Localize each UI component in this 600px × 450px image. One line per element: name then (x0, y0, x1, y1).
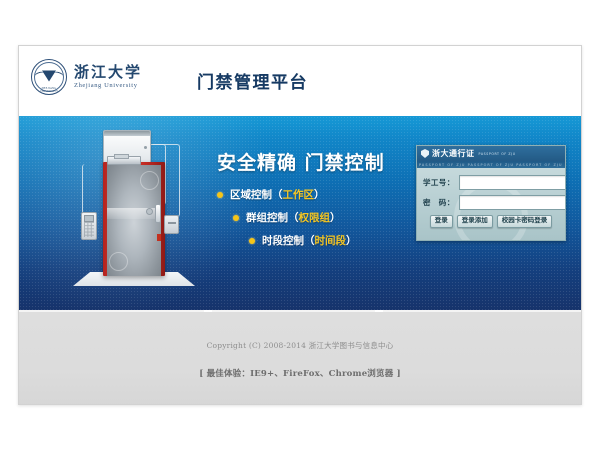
password-input[interactable] (459, 195, 566, 210)
username-input[interactable] (459, 175, 566, 190)
keypad-reader-icon (81, 212, 97, 240)
page-card: ZHEJIANG UNIVERSITY 浙江大学 Zhejiang Univer… (18, 45, 582, 405)
door-closer-icon (107, 156, 141, 165)
feature-highlight: 工作区 (283, 189, 315, 201)
login-panel-watermark-strip: PASSPORT OF ZJU PASSPORT OF ZJU PASSPORT… (417, 161, 565, 168)
field-row-password: 密 码： (423, 195, 559, 210)
site-header: ZHEJIANG UNIVERSITY 浙江大学 Zhejiang Univer… (19, 46, 581, 116)
field-row-username: 学工号： (423, 175, 559, 190)
hero-title: 安全精确 门禁控制 (217, 148, 417, 175)
access-control-door-illustration (51, 122, 211, 302)
footer-tab-marker (204, 310, 212, 312)
site-footer: Copyright (C) 2008-2014 浙江大学图书与信息中心 [ 最佳… (19, 310, 581, 405)
feature-item-area-control: 区域控制（工作区） (217, 187, 417, 202)
feature-tail: ） (346, 235, 357, 247)
brand-name-cn: 浙江大学 (74, 65, 142, 80)
login-panel-header: 浙大通行证 PASSPORT OF ZJU (417, 146, 565, 161)
campus-card-password-login-button[interactable]: 校园卡密码登录 (497, 215, 553, 228)
feature-item-group-control: 群组控制（权限组） (233, 210, 417, 225)
hero-copy: 安全精确 门禁控制 区域控制（工作区） 群组控制（权限组） 时段控制（时间段） (217, 148, 417, 256)
feature-highlight: 时间段 (315, 235, 347, 247)
login-panel-subtitle: PASSPORT OF ZJU (479, 152, 516, 156)
login-button-row: 登录 登录添加 校园卡密码登录 (423, 215, 559, 228)
seal-arc-text: ZHEJIANG UNIVERSITY (32, 87, 66, 93)
door-handle-icon (155, 204, 161, 223)
login-button[interactable]: 登录 (430, 215, 453, 228)
feature-tail: ） (330, 212, 341, 224)
feature-label: 区域控制（ (230, 189, 283, 201)
login-panel-title: 浙大通行证 (432, 148, 475, 159)
shield-icon (421, 149, 429, 158)
feature-tail: ） (314, 189, 325, 201)
page-title: 门禁管理平台 (197, 68, 308, 93)
wire-controller-to-keypad (82, 164, 105, 214)
feature-highlight: 权限组 (299, 212, 331, 224)
footer-tab-marker (375, 310, 383, 312)
brand-name-en: Zhejiang University (74, 83, 142, 90)
feature-label: 时段控制（ (262, 235, 315, 247)
bullet-icon (233, 215, 239, 221)
login-form: 学工号： 密 码： 登录 登录添加 校园卡密码登录 (417, 168, 565, 228)
login-add-button[interactable]: 登录添加 (457, 215, 493, 228)
door-leaf (107, 165, 161, 276)
login-panel[interactable]: 浙大通行证 PASSPORT OF ZJU PASSPORT OF ZJU PA… (416, 145, 566, 241)
zju-seal-icon: ZHEJIANG UNIVERSITY (31, 59, 67, 95)
supported-browsers-text: [ 最佳体验：IE9+、FireFox、Chrome浏览器 ] (19, 351, 581, 379)
feature-label: 群组控制（ (246, 212, 299, 224)
bullet-icon (249, 238, 255, 244)
bullet-icon (217, 192, 223, 198)
copyright-text: Copyright (C) 2008-2014 浙江大学图书与信息中心 (19, 312, 581, 351)
password-label: 密 码： (423, 197, 455, 208)
card-reader-icon (164, 215, 179, 234)
username-label: 学工号： (423, 177, 455, 188)
door-strike-icon (157, 234, 161, 241)
brand-logo[interactable]: ZHEJIANG UNIVERSITY 浙江大学 Zhejiang Univer… (31, 59, 142, 95)
door-lock-icon (146, 208, 153, 215)
hero-banner: 安全精确 门禁控制 区域控制（工作区） 群组控制（权限组） 时段控制（时间段） … (19, 116, 581, 310)
feature-item-time-control: 时段控制（时间段） (249, 233, 417, 248)
